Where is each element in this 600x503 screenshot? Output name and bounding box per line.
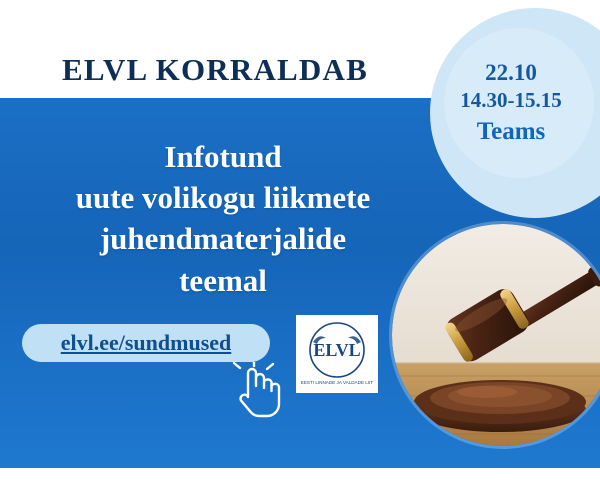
event-date: 22.10: [436, 58, 586, 87]
event-platform: Teams: [436, 116, 586, 148]
gavel-photo: [392, 224, 600, 446]
headline-line-1: Infotund: [8, 136, 438, 177]
bottom-white-band: [0, 468, 600, 503]
website-link-label: elvl.ee/sundmused: [61, 330, 232, 356]
event-time: 14.30-15.15: [436, 87, 586, 114]
event-date-block: 22.10 14.30-15.15 Teams: [436, 58, 586, 148]
headline-line-4: teemal: [8, 260, 438, 301]
tap-hand-icon: [228, 362, 288, 420]
elvl-logo: ELVL EESTI LINNADE JA VALDADE LIIT: [296, 315, 378, 393]
headline-line-2: uute volikogu liikmete: [8, 177, 438, 218]
website-link-button[interactable]: elvl.ee/sundmused: [22, 324, 270, 362]
page-title: ELVL KORRALDAB: [0, 52, 430, 88]
poster-image: ELVL KORRALDAB 22.10 14.30-15.15 Teams I…: [0, 0, 600, 503]
headline-line-3: juhendmaterjalide: [8, 218, 438, 259]
event-headline: Infotund uute volikogu liikmete juhendma…: [8, 136, 438, 301]
svg-text:EESTI LINNADE JA VALDADE LIIT: EESTI LINNADE JA VALDADE LIIT: [301, 380, 374, 385]
svg-text:ELVL: ELVL: [313, 340, 360, 360]
